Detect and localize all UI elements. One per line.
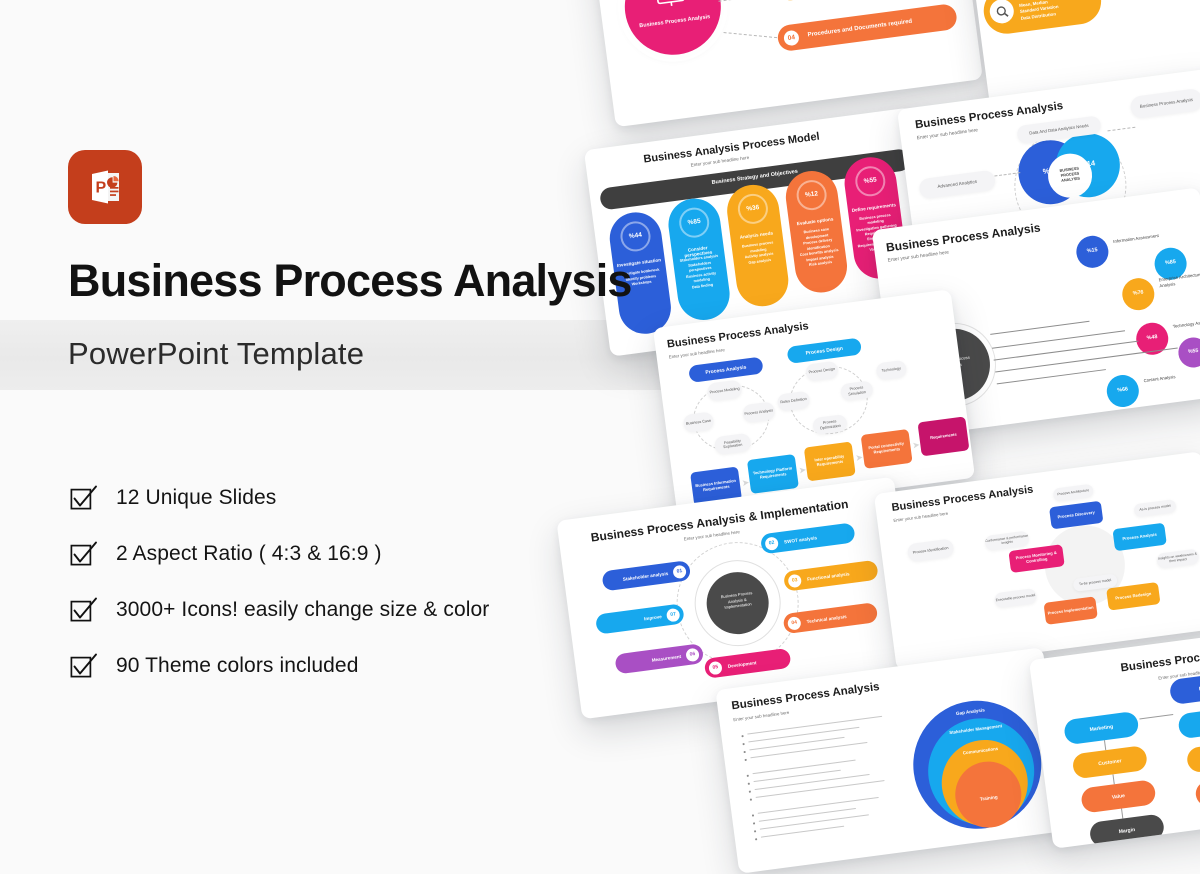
node-circle[interactable]: %66	[1105, 373, 1141, 409]
node-label: Content Analysis	[1143, 371, 1195, 383]
mindmap-hub-label: Business Process Analysis	[627, 12, 723, 32]
node-percent: %48	[1136, 333, 1169, 343]
wheel-item[interactable]: 03 Functional analysis	[783, 560, 879, 592]
chain-item[interactable]: Margin	[1089, 813, 1166, 847]
connector-line	[1121, 809, 1123, 819]
svg-text:P: P	[96, 180, 107, 197]
column-body: Business case development Process delive…	[793, 226, 844, 271]
lifecycle-note: Conformance & performance insights	[984, 531, 1030, 552]
chain-item[interactable]: Strategy	[1177, 704, 1200, 739]
node-label: Technology Assessment	[1172, 317, 1200, 329]
product-info-panel: P Business Process Analysis PowerPoint T…	[0, 0, 600, 800]
feature-label: 2 Aspect Ratio ( 4:3 & 16:9 )	[116, 542, 382, 566]
slide-title: Business Process Analysis	[885, 220, 1041, 254]
feature-list: 12 Unique Slides 2 Aspect Ratio ( 4:3 & …	[70, 470, 590, 694]
connector-line	[990, 321, 1089, 335]
item-label: SWOT analysis	[784, 535, 818, 544]
slide-title: Business Process Analysis	[891, 484, 1034, 515]
item-label: Procedures and Documents required	[807, 19, 912, 39]
mindmap-item[interactable]: 03 Some quantitative indicators	[776, 0, 958, 2]
callout[interactable]: Business Process Analysis	[1129, 88, 1200, 119]
requirement-box[interactable]: Portal connectivity Requirements	[861, 429, 913, 469]
slide-title: Business Process Analysis	[1120, 643, 1200, 674]
item-number: 03	[786, 572, 803, 589]
node-percent: %55	[1178, 347, 1200, 357]
item-number: 07	[665, 606, 682, 623]
process-column[interactable]: %36 Analysis needs Business process mode…	[724, 182, 791, 310]
connector-line	[997, 369, 1106, 384]
callout[interactable]: Advanced Analytics	[918, 170, 996, 200]
feature-item: 90 Theme colors included	[70, 638, 590, 694]
lifecycle-stage[interactable]: Process Discovery	[1049, 501, 1103, 530]
cycle-badge[interactable]: Process Design	[786, 337, 862, 364]
chain-item[interactable]: Customer	[1072, 745, 1149, 779]
mindmap-item[interactable]: 04 Procedures and Documents required	[776, 3, 958, 52]
arrow-icon: ➤	[855, 452, 864, 464]
item-label: Technical analysis	[806, 614, 847, 624]
item-number: 05	[707, 659, 724, 676]
checkbox-checked-icon	[70, 596, 98, 624]
feature-label: 12 Unique Slides	[116, 486, 276, 510]
connector-line	[995, 348, 1178, 373]
connector-line	[718, 0, 788, 2]
requirement-box[interactable]: Inter operability Requirements	[804, 441, 856, 481]
checkbox-checked-icon	[70, 540, 98, 568]
lifecycle-note: Process Architecture	[1053, 484, 1094, 502]
wheel-item[interactable]: 02 SWOT analysis	[760, 522, 856, 554]
node-circle[interactable]: %55	[1177, 336, 1200, 370]
magnifier-icon	[988, 0, 1015, 25]
column-label: Evaluate options	[792, 216, 838, 227]
donut-center-label: BUSINESS PROCESS ANALYSIS	[1047, 165, 1093, 186]
cycle-node: Process Analysis	[742, 401, 776, 423]
slide-title: Business Process Analysis	[731, 681, 880, 712]
mindmap-hub: Business Process Analysis	[619, 0, 727, 61]
item-number: 04	[786, 614, 803, 631]
connector-line	[1112, 774, 1114, 784]
presentation-icon	[653, 0, 690, 11]
chain-item[interactable]: Marketing	[1063, 711, 1140, 745]
lifecycle-note: Executable process model	[994, 588, 1038, 608]
cycle-node: Feasibility Exploration	[714, 433, 752, 456]
arrow-icon: ➤	[912, 440, 921, 452]
item-number: 04	[781, 27, 802, 48]
node-percent: %15	[1076, 246, 1109, 256]
item-number: 06	[684, 646, 701, 663]
node-circle[interactable]: %76	[1120, 276, 1156, 312]
column-label: Analysis needs	[733, 230, 779, 241]
process-column[interactable]: %12 Evaluate options Business case devel…	[783, 168, 850, 296]
cycle-node: Technology	[875, 360, 907, 381]
item-label: Measurement	[651, 653, 681, 662]
item-label: Stakeholder analysis	[622, 570, 668, 581]
feature-label: 3000+ Icons! easily change size & color	[116, 598, 489, 622]
feature-item: 3000+ Icons! easily change size & color	[70, 582, 590, 638]
value-chain-slide[interactable]: Business Process Analysis Enter your sub…	[1029, 621, 1200, 849]
node-percent: %85	[1154, 258, 1187, 268]
lifecycle-note: Insights on weaknesses & their impact	[1156, 548, 1200, 568]
node-circle[interactable]: %15	[1074, 234, 1110, 270]
lifecycle-stage[interactable]: Process Implementation	[1043, 596, 1097, 625]
feature-item: 2 Aspect Ratio ( 4:3 & 16:9 )	[70, 526, 590, 582]
lifecycle-stage[interactable]: Process Analysis	[1112, 523, 1166, 552]
cycle-node: Process Optimization	[812, 414, 848, 435]
cycle-badge[interactable]: Process Analysis	[688, 356, 764, 383]
process-column[interactable]: %85 Consider perspectives Stakeholders a…	[665, 195, 732, 323]
variation-analysis-card[interactable]: Variation Analysis Mean, Median Standard…	[981, 0, 1104, 36]
requirement-box[interactable]: Technology Platform Requirements	[747, 454, 799, 494]
requirement-box[interactable]: Requirements	[917, 416, 969, 456]
page-subtitle: PowerPoint Template	[68, 336, 364, 372]
wheel-item[interactable]: Improve 07	[595, 603, 685, 634]
column-body: Business process modeling Activity analy…	[735, 240, 784, 268]
lifecycle-note: As-is process model	[1133, 499, 1176, 517]
chain-item[interactable]: Operations	[1186, 738, 1200, 773]
item-number: 02	[763, 535, 780, 552]
feature-item: 12 Unique Slides	[70, 470, 590, 526]
wheel-item[interactable]: Measurement 06	[614, 643, 704, 674]
node-percent: %66	[1106, 385, 1139, 395]
slide-subtitle: Enter your sub headline here	[733, 710, 790, 722]
connector-line	[1104, 740, 1106, 750]
item-number: 01	[671, 563, 688, 580]
item-label: Functional analysis	[807, 571, 850, 582]
connector-line	[1139, 714, 1173, 719]
column-label: Define requirements	[851, 202, 897, 213]
connector-line	[1107, 127, 1135, 132]
process-cycle-requirements-slide[interactable]: Business Process Analysis Enter your sub…	[653, 289, 975, 517]
slide-subtitle: Enter your sub headline here	[917, 128, 979, 141]
lifecycle-note: Process Identification	[907, 538, 955, 562]
arrow-icon: ➤	[798, 465, 807, 477]
chain-item[interactable]: Process	[1194, 772, 1200, 807]
ring-label: Training	[956, 791, 1022, 805]
chain-item[interactable]: Value	[1080, 779, 1157, 813]
checkbox-checked-icon	[70, 484, 98, 512]
cycle-node: Process Simulation	[840, 380, 874, 401]
column-body: Stakeholders analysis Stakeholders persp…	[676, 253, 726, 292]
checkbox-checked-icon	[70, 652, 98, 680]
powerpoint-icon: P	[68, 150, 142, 224]
item-label: Development	[727, 660, 756, 669]
page-title: Business Process Analysis	[68, 255, 632, 307]
slide-title: Business Process Analysis	[666, 320, 809, 351]
node-label: Information Assessment	[1113, 231, 1175, 245]
item-label: Improve	[644, 614, 662, 621]
node-percent: %76	[1122, 288, 1155, 298]
arrow-icon: ➤	[741, 477, 750, 489]
feature-label: 90 Theme colors included	[116, 654, 359, 678]
